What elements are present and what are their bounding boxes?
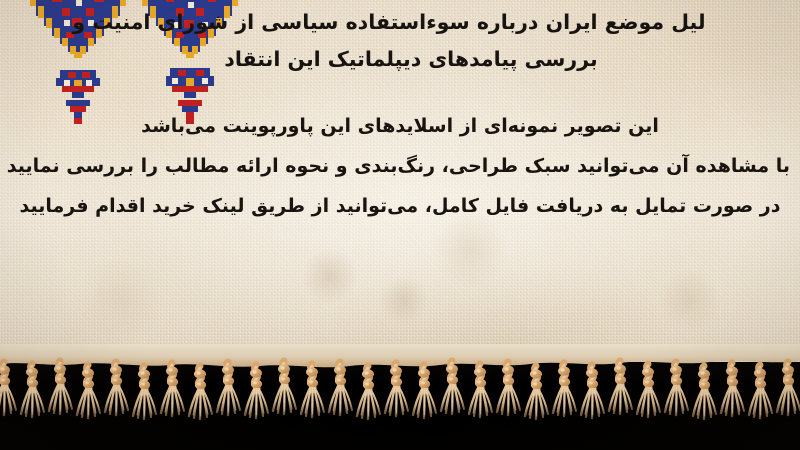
- carpet-fringe-tassels: [0, 344, 800, 450]
- slide-title: لیل موضع ایران درباره سوءاستفاده سیاسی ا…: [14, 4, 800, 78]
- body-line-2: با مشاهده آن می‌توانید سبک طراحی، رنگ‌بن…: [10, 146, 790, 186]
- slide-body-text: این تصویر نمونه‌ای از اسلایدهای این پاور…: [10, 106, 790, 226]
- title-line-1: لیل موضع ایران درباره سوءاستفاده سیاسی ا…: [14, 4, 764, 41]
- body-line-3: در صورت تمایل به دریافت فایل کامل، می‌تو…: [10, 186, 790, 226]
- fringe-tassel-row: [0, 361, 800, 419]
- body-line-1: این تصویر نمونه‌ای از اسلایدهای این پاور…: [10, 106, 790, 146]
- title-line-2: بررسی پیامدهای دیپلماتیک این انتقاد: [14, 41, 800, 78]
- slide-canvas: لیل موضع ایران درباره سوءاستفاده سیاسی ا…: [0, 0, 800, 450]
